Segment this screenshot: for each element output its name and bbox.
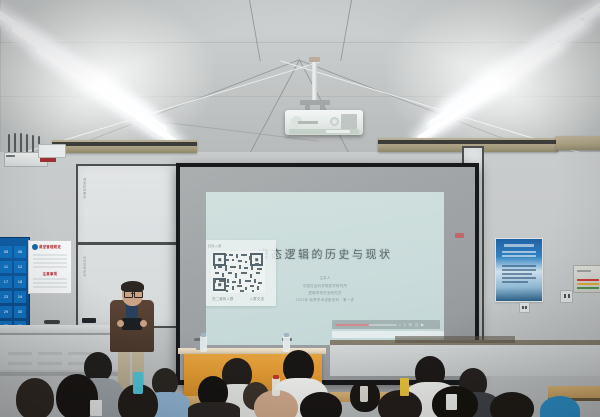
status-led-icon: [40, 158, 56, 162]
projector-lens: [330, 117, 339, 126]
volume-icon[interactable]: ♫: [398, 322, 401, 327]
presentation-slide: 模态逻辑的历史与现状 主讲人 中国社会科学院哲学研究所 逻辑学研究室研究员 20…: [206, 192, 444, 345]
yellow-cup: [400, 378, 409, 396]
student-head: [490, 392, 534, 417]
qr-code-icon[interactable]: [211, 251, 265, 293]
fullscreen-icon[interactable]: ▶: [421, 322, 424, 327]
water-bottle: [272, 378, 280, 396]
notice-poster-section: 注意事项: [29, 271, 71, 276]
student-head: [16, 378, 54, 417]
white-cup: [90, 400, 102, 416]
notice-poster-header: 课堂管理规定: [29, 244, 71, 249]
red-header-notice-poster: 课堂管理规定 注意事项: [28, 240, 72, 294]
screen-reflection-dot: [455, 233, 464, 238]
qr-caption-right: 入群交流: [220, 296, 294, 301]
media-control-bar[interactable]: ♫ ▯ ⚙ ◫ ▶: [332, 320, 440, 329]
white-cup: [446, 394, 457, 410]
whiteboard-text: 课堂纪律要求: [82, 178, 87, 234]
fluorescent-light-left: [0, 4, 188, 134]
water-bottle: [200, 336, 207, 352]
whiteboard-text-2: 请勿喧哗走动: [82, 256, 87, 312]
front-left-desk: [0, 325, 112, 333]
classroom-photo: 课堂纪律要求 请勿喧哗走动 模态逻辑的历史与现状 主讲人 中国社会科学院哲学研究…: [0, 0, 600, 417]
thermos-cup: [133, 372, 143, 394]
calendar-chart-poster: 05 06 11 12 17 18 23 24 29 30 35 36: [0, 237, 30, 334]
qr-header-label: 扫码入群: [208, 244, 222, 248]
water-bottle: [360, 386, 368, 402]
presenter-handheld-device: [122, 318, 142, 330]
playback-progress[interactable]: [335, 324, 369, 326]
subtitle-icon[interactable]: ▯: [404, 322, 406, 327]
qr-overlay-panel: 扫码入群: [206, 240, 276, 306]
wall-control-panel[interactable]: [573, 265, 600, 293]
student-head: [300, 392, 342, 417]
picture-in-picture-icon[interactable]: ◫: [415, 322, 419, 327]
water-bottle: [283, 336, 290, 352]
wall-socket-2[interactable]: [519, 302, 530, 313]
settings-icon[interactable]: ⚙: [408, 322, 412, 327]
blue-safety-poster: [495, 238, 543, 302]
wall-socket[interactable]: [560, 290, 573, 303]
